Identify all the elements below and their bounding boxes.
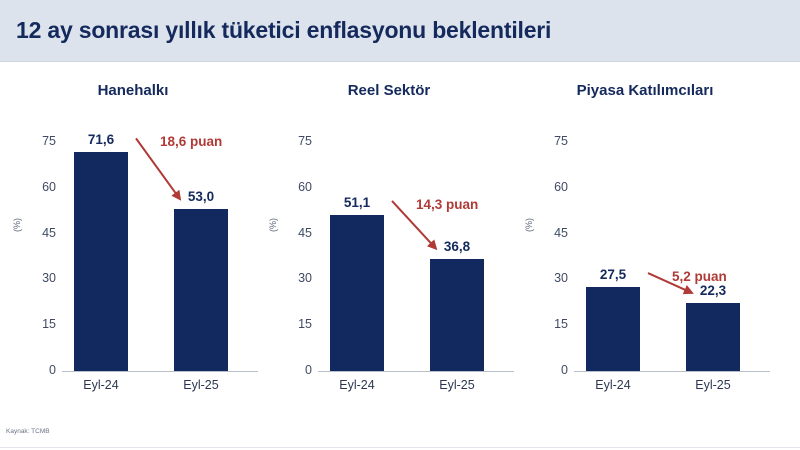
y-axis-unit-label: (%)	[268, 218, 278, 232]
x-axis-category-label: Eyl-25	[417, 378, 497, 392]
y-axis-tick-label: 0	[282, 363, 312, 377]
y-axis-tick-label: 75	[538, 134, 568, 148]
bar	[74, 152, 128, 371]
y-axis-tick-label: 0	[26, 363, 56, 377]
x-axis-category-label: Eyl-25	[161, 378, 241, 392]
bar	[330, 215, 384, 371]
x-axis-line	[318, 371, 514, 372]
bar-value-label: 51,1	[322, 195, 392, 210]
y-axis-tick-label: 0	[538, 363, 568, 377]
y-axis-unit-label: (%)	[524, 218, 534, 232]
y-axis-tick-label: 45	[26, 226, 56, 240]
y-axis-tick-label: 15	[282, 317, 312, 331]
bar-value-label: 71,6	[66, 132, 136, 147]
x-axis-category-label: Eyl-24	[61, 378, 141, 392]
y-axis-tick-label: 75	[282, 134, 312, 148]
bar	[686, 303, 740, 371]
y-axis-tick-label: 15	[538, 317, 568, 331]
x-axis-category-label: Eyl-25	[673, 378, 753, 392]
chart-panel-piyasa-katilimcilari: Piyasa Katılımcıları(%)7560453015027,5Ey…	[512, 62, 778, 412]
x-axis-line	[62, 371, 258, 372]
bar	[586, 287, 640, 371]
charts-area: Hanehalkı(%)7560453015071,6Eyl-2453,0Eyl…	[0, 62, 800, 412]
y-axis-tick-label: 45	[538, 226, 568, 240]
y-axis-tick-label: 60	[26, 180, 56, 194]
page-title: 12 ay sonrası yıllık tüketici enflasyonu…	[16, 17, 551, 44]
bar-value-label: 27,5	[578, 267, 648, 282]
y-axis-tick-label: 30	[282, 271, 312, 285]
chart-panel-hanehalki: Hanehalkı(%)7560453015071,6Eyl-2453,0Eyl…	[0, 62, 266, 412]
bottom-rule	[0, 447, 800, 448]
delta-annotation-label: 14,3 puan	[416, 197, 478, 212]
bar-value-label: 53,0	[166, 189, 236, 204]
bar-value-label: 36,8	[422, 239, 492, 254]
chart-panel-reel-sektor: Reel Sektör(%)7560453015051,1Eyl-2436,8E…	[256, 62, 522, 412]
y-axis-tick-label: 75	[26, 134, 56, 148]
y-axis-unit-label: (%)	[12, 218, 22, 232]
x-axis-category-label: Eyl-24	[317, 378, 397, 392]
y-axis-tick-label: 15	[26, 317, 56, 331]
bar-value-label: 22,3	[678, 283, 748, 298]
y-axis-tick-label: 60	[538, 180, 568, 194]
y-axis-tick-label: 60	[282, 180, 312, 194]
delta-annotation-label: 18,6 puan	[160, 134, 222, 149]
y-axis-tick-label: 30	[538, 271, 568, 285]
y-axis-tick-label: 45	[282, 226, 312, 240]
header-band: 12 ay sonrası yıllık tüketici enflasyonu…	[0, 0, 800, 62]
x-axis-line	[574, 371, 770, 372]
panel-title: Reel Sektör	[256, 82, 522, 99]
y-axis-tick-label: 30	[26, 271, 56, 285]
bar	[430, 259, 484, 371]
x-axis-category-label: Eyl-24	[573, 378, 653, 392]
source-note: Kaynak: TCMB	[6, 428, 50, 435]
panel-title: Piyasa Katılımcıları	[512, 82, 778, 99]
bar	[174, 209, 228, 371]
panel-title: Hanehalkı	[0, 82, 266, 99]
delta-annotation-label: 5,2 puan	[672, 269, 727, 284]
